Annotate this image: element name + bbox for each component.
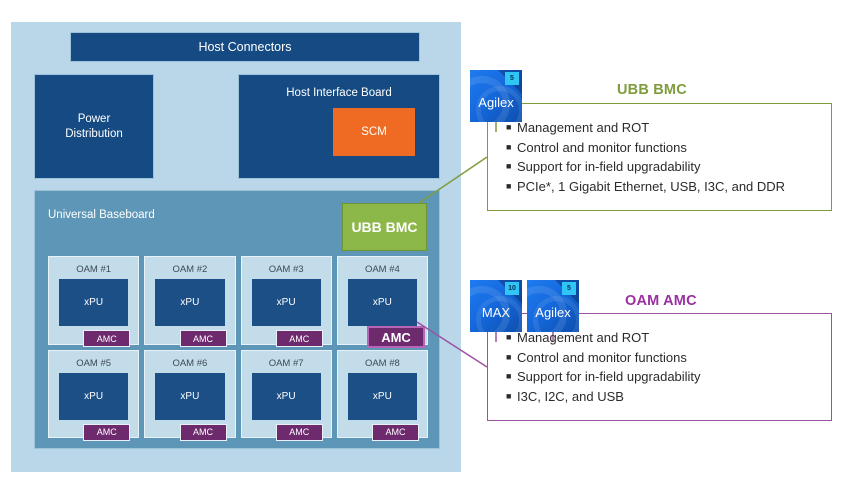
amc-block: AMC <box>180 330 227 347</box>
agilex-oam-chip-logo: 5 Agilex <box>527 280 579 332</box>
xpu-block: xPU <box>348 279 417 326</box>
power-distribution-label-line1: Power <box>78 113 111 125</box>
host-connectors-label: Host Connectors <box>198 40 291 54</box>
oam-card-label: OAM #2 <box>145 264 234 275</box>
universal-baseboard-block: Universal Baseboard UBB BMC OAM #1xPUAMC… <box>34 190 440 449</box>
feature-list-item: ■PCIe*, 1 Gigabit Ethernet, USB, I3C, an… <box>506 177 785 197</box>
scm-label: SCM <box>361 126 387 138</box>
feature-list-item-label: Support for in-field upgradability <box>517 159 701 174</box>
ubb-bmc-callout-title: UBB BMC <box>617 82 687 98</box>
ubb-bmc-callout-box: ■Management and ROT■Control and monitor … <box>487 103 832 211</box>
agilex-logo-name: Agilex <box>470 95 522 110</box>
feature-list-item-label: I3C, I2C, and USB <box>517 389 624 404</box>
square-bullet-icon: ■ <box>506 157 517 176</box>
oam-card: OAM #4xPUAMC <box>337 256 428 345</box>
agilex-chip-logo: 5 Agilex <box>470 70 522 122</box>
square-bullet-icon: ■ <box>506 367 517 386</box>
xpu-block: xPU <box>59 373 128 420</box>
amc-block: AMC <box>83 424 130 441</box>
power-distribution-block: Power Distribution <box>34 74 154 179</box>
agilex-oam-logo-name: Agilex <box>527 305 579 320</box>
oam-card-label: OAM #1 <box>49 264 138 275</box>
ubb-bmc-block: UBB BMC <box>342 203 427 251</box>
amc-block: AMC <box>180 424 227 441</box>
amc-block-highlighted: AMC <box>367 326 425 348</box>
xpu-block: xPU <box>155 373 224 420</box>
oam-card-label: OAM #5 <box>49 358 138 369</box>
oam-amc-callout-title: OAM AMC <box>625 293 697 309</box>
agilex-oam-logo-generation-badge: 5 <box>562 282 576 295</box>
oam-card-label: OAM #3 <box>242 264 331 275</box>
feature-list-item-label: Control and monitor functions <box>517 350 687 365</box>
square-bullet-icon: ■ <box>506 138 517 157</box>
amc-block: AMC <box>276 330 323 347</box>
oam-card: OAM #6xPUAMC <box>144 350 235 439</box>
feature-list-item: ■Control and monitor functions <box>506 138 785 158</box>
feature-list-item: ■I3C, I2C, and USB <box>506 387 701 407</box>
oam-card-label: OAM #8 <box>338 358 427 369</box>
square-bullet-icon: ■ <box>506 387 517 406</box>
ubb-bmc-feature-list: ■Management and ROT■Control and monitor … <box>506 118 785 196</box>
xpu-block: xPU <box>348 373 417 420</box>
oam-card-label: OAM #7 <box>242 358 331 369</box>
ubb-bmc-label: UBB BMC <box>351 219 417 235</box>
server-board-diagram-panel: Host Connectors Power Distribution Host … <box>11 22 461 472</box>
oam-amc-feature-list: ■Management and ROT■Control and monitor … <box>506 328 701 406</box>
oam-card: OAM #8xPUAMC <box>337 350 428 439</box>
feature-list-item: ■Support for in-field upgradability <box>506 367 701 387</box>
feature-list-item: ■Support for in-field upgradability <box>506 157 785 177</box>
amc-block: AMC <box>83 330 130 347</box>
xpu-block: xPU <box>59 279 128 326</box>
oam-card: OAM #7xPUAMC <box>241 350 332 439</box>
host-connectors-block: Host Connectors <box>70 32 420 62</box>
feature-list-item-label: Management and ROT <box>517 120 649 135</box>
oam-card-label: OAM #6 <box>145 358 234 369</box>
xpu-block: xPU <box>155 279 224 326</box>
feature-list-item-label: Support for in-field upgradability <box>517 369 701 384</box>
oam-card-label: OAM #4 <box>338 264 427 275</box>
feature-list-item: ■Control and monitor functions <box>506 348 701 368</box>
oam-module-grid: OAM #1xPUAMCOAM #2xPUAMCOAM #3xPUAMCOAM … <box>48 256 428 438</box>
host-interface-board-block: Host Interface Board SCM <box>238 74 440 179</box>
oam-card: OAM #1xPUAMC <box>48 256 139 345</box>
agilex-logo-generation-badge: 5 <box>505 72 519 85</box>
square-bullet-icon: ■ <box>506 348 517 367</box>
square-bullet-icon: ■ <box>506 177 517 196</box>
amc-block: AMC <box>276 424 323 441</box>
power-distribution-label-line2: Distribution <box>65 128 123 140</box>
scm-block: SCM <box>333 108 415 156</box>
feature-list-item-label: Control and monitor functions <box>517 140 687 155</box>
feature-list-item-label: PCIe*, 1 Gigabit Ethernet, USB, I3C, and… <box>517 179 785 194</box>
xpu-block: xPU <box>252 279 321 326</box>
universal-baseboard-label: Universal Baseboard <box>48 209 155 221</box>
power-distribution-label: Power Distribution <box>65 112 123 142</box>
xpu-block: xPU <box>252 373 321 420</box>
host-interface-board-label: Host Interface Board <box>239 87 439 99</box>
oam-card: OAM #3xPUAMC <box>241 256 332 345</box>
amc-block: AMC <box>372 424 419 441</box>
oam-card: OAM #2xPUAMC <box>144 256 235 345</box>
feature-list-item: ■Management and ROT <box>506 118 785 138</box>
oam-card: OAM #5xPUAMC <box>48 350 139 439</box>
max-logo-name: MAX <box>470 305 522 320</box>
max-chip-logo: 10 MAX <box>470 280 522 332</box>
feature-list-item-label: Management and ROT <box>517 330 649 345</box>
max-logo-generation-badge: 10 <box>505 282 519 295</box>
